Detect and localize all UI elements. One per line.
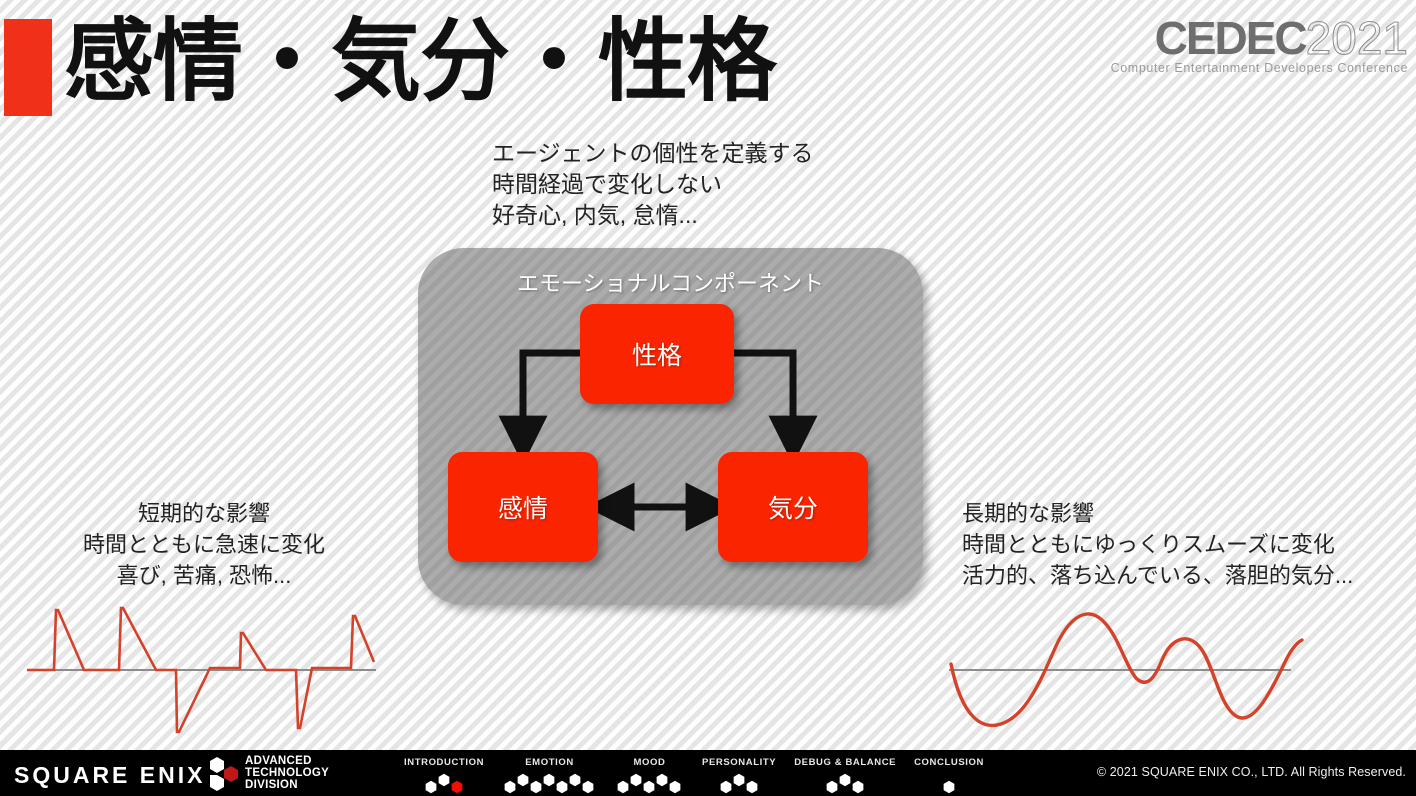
caption-right-line-1: 長期的な影響 xyxy=(962,498,1353,529)
nav-group-mood[interactable]: MOOD xyxy=(606,750,693,796)
square-enix-logo: SQUARE ENIX xyxy=(14,762,205,789)
nav-hexagon xyxy=(644,781,655,793)
graph-long-term-waveform xyxy=(946,598,1336,738)
nav-hexagon xyxy=(425,781,436,793)
page-title: 感情・気分・性格 xyxy=(64,6,776,118)
cedec-logo-year: 2021 xyxy=(1306,12,1408,64)
nav-group-personality[interactable]: PERSONALITY xyxy=(693,750,785,796)
nav-hexagon xyxy=(852,781,863,793)
nav-progress-hexagons xyxy=(502,770,597,796)
nav-group-debug-balance[interactable]: DEBUG & BALANCE xyxy=(785,750,905,796)
atd-line-2: TECHNOLOGY xyxy=(245,768,329,780)
node-emotion[interactable]: 感情 xyxy=(448,452,598,562)
nav-hexagon xyxy=(826,781,837,793)
nav-progress-hexagons xyxy=(718,770,761,796)
nav-hexagon xyxy=(570,774,581,786)
nav-hexagon xyxy=(631,774,642,786)
advanced-technology-division-hex-icon xyxy=(208,756,242,792)
nav-label: CONCLUSION xyxy=(914,757,984,768)
nav-hexagon xyxy=(618,781,629,793)
square-enix-logo-text: SQUARE ENIX xyxy=(14,762,205,788)
caption-left: 短期的な影響 時間とともに急速に変化 喜び, 苦痛, 恐怖... xyxy=(34,498,374,591)
nav-progress-hexagons xyxy=(941,770,958,796)
atd-line-3: DIVISION xyxy=(245,780,329,792)
top-description: エージェントの個性を定義する 時間経過で変化しない 好奇心, 内気, 怠惰... xyxy=(492,138,814,231)
graph-short-term-waveform xyxy=(24,598,384,738)
nav-hexagon xyxy=(518,774,529,786)
slide-root: 感情・気分・性格 CEDEC2021 Computer Entertainmen… xyxy=(0,0,1416,796)
nav-label: EMOTION xyxy=(525,757,574,768)
nav-group-introduction[interactable]: INTRODUCTION xyxy=(395,750,493,796)
copyright-text: © 2021 SQUARE ENIX CO., LTD. All Rights … xyxy=(1097,765,1406,779)
footer-bar: SQUARE ENIX ADVANCED TECHNOLOGY DIVISION… xyxy=(0,750,1416,796)
caption-left-line-3: 喜び, 苦痛, 恐怖... xyxy=(34,560,374,591)
top-description-line-1: エージェントの個性を定義する xyxy=(492,138,814,169)
node-mood[interactable]: 気分 xyxy=(718,452,868,562)
nav-label: INTRODUCTION xyxy=(404,757,484,768)
nav-hexagon xyxy=(733,774,744,786)
nav-hexagon xyxy=(583,781,594,793)
nav-hexagon xyxy=(557,781,568,793)
nav-hexagon-active xyxy=(451,781,462,793)
emotional-component-title: エモーショナルコンポーネント xyxy=(418,266,923,298)
nav-hexagon xyxy=(720,781,731,793)
nav-hexagon xyxy=(505,781,516,793)
nav-hexagon xyxy=(670,781,681,793)
nav-hexagon xyxy=(839,774,850,786)
nav-hexagon xyxy=(943,781,954,793)
top-description-line-2: 時間経過で変化しない xyxy=(492,169,814,200)
node-personality[interactable]: 性格 xyxy=(580,304,734,404)
nav-hexagon xyxy=(438,774,449,786)
nav-hexagon xyxy=(746,781,757,793)
caption-left-line-2: 時間とともに急速に変化 xyxy=(34,529,374,560)
caption-right: 長期的な影響 時間とともにゆっくりスムーズに変化 活力的、落ち込んでいる、落胆的… xyxy=(962,498,1353,591)
cedec-logo-subtitle: Computer Entertainment Developers Confer… xyxy=(1111,60,1408,76)
nav-progress-hexagons xyxy=(423,770,466,796)
cedec-logo-main: CEDEC2021 xyxy=(1111,14,1408,62)
footer-nav[interactable]: INTRODUCTIONEMOTIONMOODPERSONALITYDEBUG … xyxy=(395,750,993,796)
nav-progress-hexagons xyxy=(824,770,867,796)
advanced-technology-division-text: ADVANCED TECHNOLOGY DIVISION xyxy=(245,756,329,791)
nav-hexagon xyxy=(657,774,668,786)
cedec-logo-name: CEDEC xyxy=(1155,12,1306,64)
nav-group-conclusion[interactable]: CONCLUSION xyxy=(905,750,993,796)
caption-right-line-3: 活力的、落ち込んでいる、落胆的気分... xyxy=(962,560,1353,591)
cedec-logo: CEDEC2021 Computer Entertainment Develop… xyxy=(1111,14,1408,76)
nav-label: DEBUG & BALANCE xyxy=(794,757,896,768)
caption-left-line-1: 短期的な影響 xyxy=(34,498,374,529)
top-description-line-3: 好奇心, 内気, 怠惰... xyxy=(492,200,814,231)
nav-label: MOOD xyxy=(634,757,666,768)
nav-hexagon xyxy=(544,774,555,786)
caption-right-line-2: 時間とともにゆっくりスムーズに変化 xyxy=(962,529,1353,560)
nav-hexagon xyxy=(531,781,542,793)
title-accent-bar xyxy=(4,19,52,116)
nav-label: PERSONALITY xyxy=(702,757,776,768)
nav-progress-hexagons xyxy=(615,770,684,796)
nav-group-emotion[interactable]: EMOTION xyxy=(493,750,606,796)
